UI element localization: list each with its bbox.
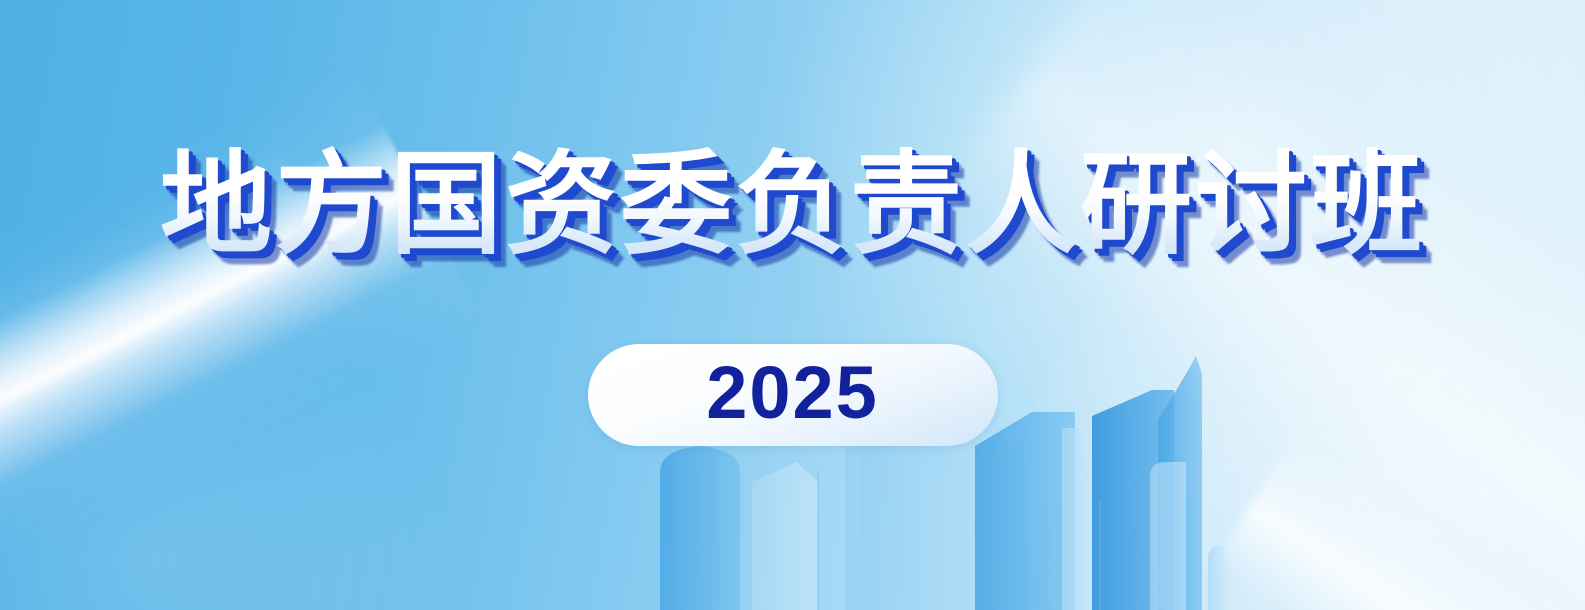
light-streak-bottom-left-icon [0,55,483,610]
building-tower-center-sliver [1062,428,1092,610]
page-title: 地方国资委负责人研讨班 [160,143,1425,268]
building-tower-right-ledge [1150,462,1186,610]
sky-glow-top-right-icon [780,0,1585,540]
light-streak-bottom-right-icon [1213,430,1585,610]
building-tower-left-thin [752,462,818,610]
light-streak-top-right-icon [937,0,1585,610]
banner-title-container: 地方国资委负责人研讨班 [0,143,1585,268]
year-badge: 2025 [588,344,998,446]
year-badge-label: 2025 [632,356,954,430]
event-banner: 地方国资委负责人研讨班 2025 [0,0,1585,610]
building-tower-far-right [1208,546,1230,610]
building-tower-left-back [700,418,860,610]
building-tower-left-slab [660,446,740,610]
building-tower-center-wide [845,430,985,610]
year-badge-container: 2025 [0,344,1585,446]
